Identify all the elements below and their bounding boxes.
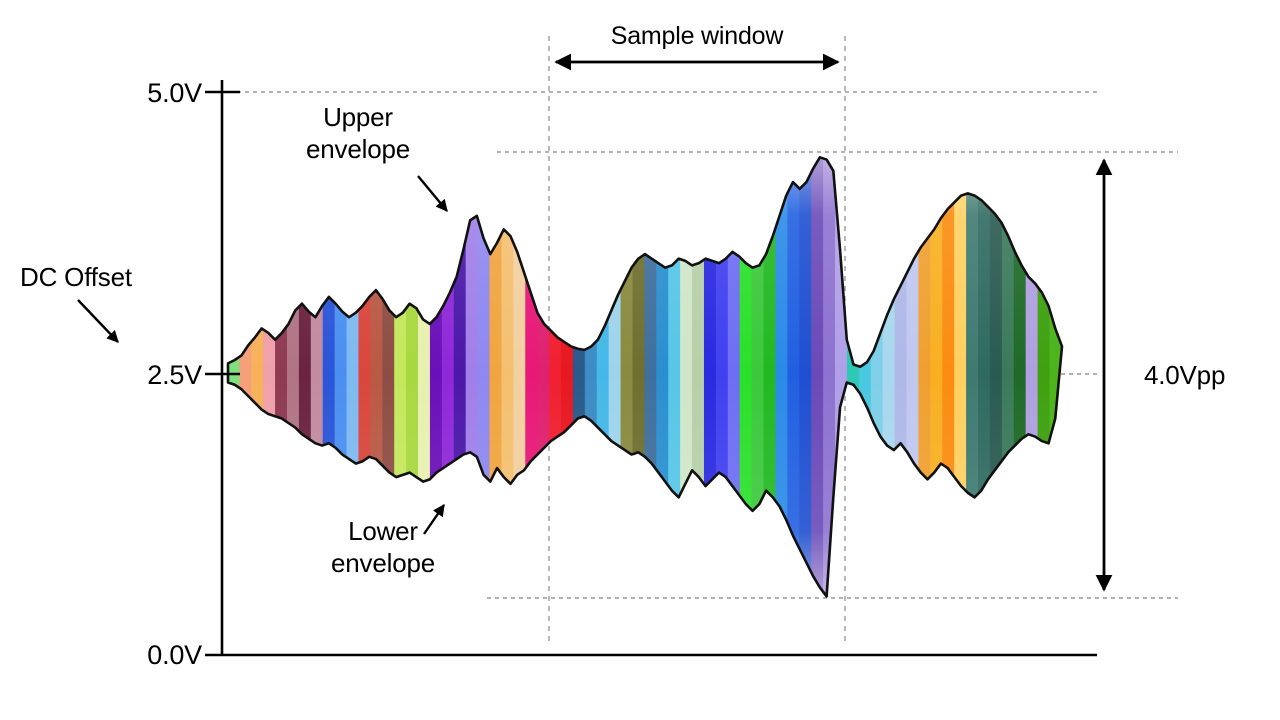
lower-envelope-label-line1: Lower <box>318 516 448 546</box>
lower-envelope-label-line2: envelope <box>318 548 448 578</box>
sample-window-label: Sample window <box>549 22 845 51</box>
axis-tick-label-0v: 0.0V <box>118 640 202 671</box>
figure-canvas: 5.0V 2.5V 0.0V DC Offset Upper envelope … <box>0 0 1280 720</box>
upper-envelope-arrow <box>418 176 447 211</box>
upper-envelope-label-line1: Upper <box>288 102 428 132</box>
dc-offset-label: DC Offset <box>20 262 132 292</box>
dc-offset-arrow <box>78 300 118 342</box>
axis-tick-label-5v: 5.0V <box>118 78 202 109</box>
axis-tick-label-2p5v: 2.5V <box>118 360 202 391</box>
vpp-label: 4.0Vpp <box>1144 360 1225 390</box>
upper-envelope-label-line2: envelope <box>288 134 428 164</box>
